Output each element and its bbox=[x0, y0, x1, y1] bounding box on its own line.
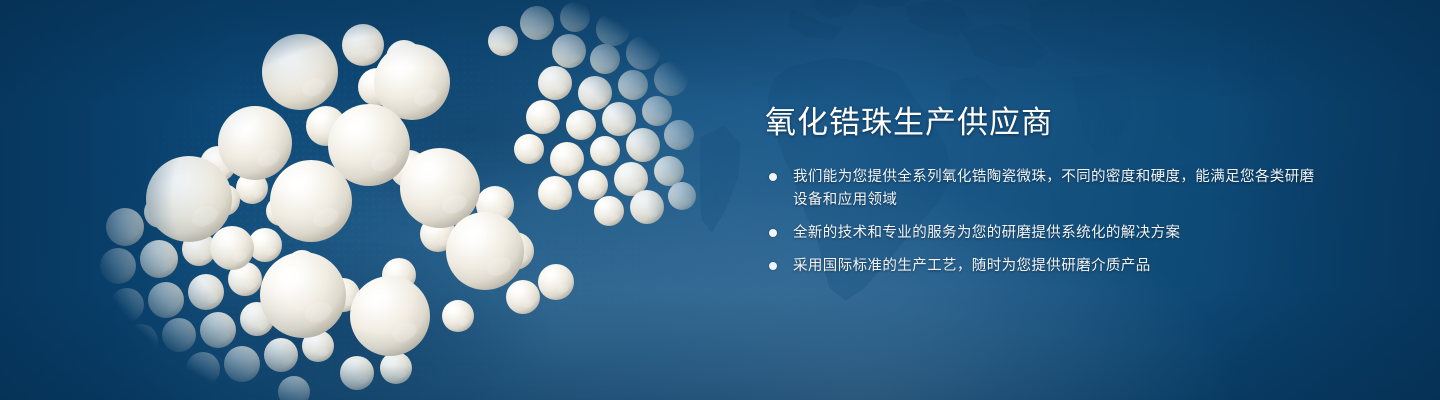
hero-banner: 氧化锆珠生产供应商 我们能为您提供全系列氧化锆陶瓷微珠，不同的密度和硬度，能满足… bbox=[0, 0, 1440, 400]
list-item: 采用国际标准的生产工艺，随时为您提供研磨介质产品 bbox=[765, 255, 1325, 278]
list-item-label: 我们能为您提供全系列氧化锆陶瓷微珠，不同的密度和硬度，能满足您各类研磨设备和应用… bbox=[793, 166, 1325, 212]
bullet-dot-icon bbox=[769, 173, 777, 181]
feature-list: 我们能为您提供全系列氧化锆陶瓷微珠，不同的密度和硬度，能满足您各类研磨设备和应用… bbox=[765, 166, 1325, 278]
list-item: 我们能为您提供全系列氧化锆陶瓷微珠，不同的密度和硬度，能满足您各类研磨设备和应用… bbox=[765, 166, 1325, 212]
list-item: 全新的技术和专业的服务为您的研磨提供系统化的解决方案 bbox=[765, 222, 1325, 245]
zirconia-beads-photo bbox=[90, 0, 730, 400]
list-item-label: 全新的技术和专业的服务为您的研磨提供系统化的解决方案 bbox=[793, 222, 1325, 245]
list-item-label: 采用国际标准的生产工艺，随时为您提供研磨介质产品 bbox=[793, 255, 1325, 278]
bullet-dot-icon bbox=[769, 262, 777, 270]
bullet-dot-icon bbox=[769, 229, 777, 237]
banner-copy: 氧化锆珠生产供应商 我们能为您提供全系列氧化锆陶瓷微珠，不同的密度和硬度，能满足… bbox=[765, 106, 1325, 278]
page-title: 氧化锆珠生产供应商 bbox=[765, 106, 1325, 141]
